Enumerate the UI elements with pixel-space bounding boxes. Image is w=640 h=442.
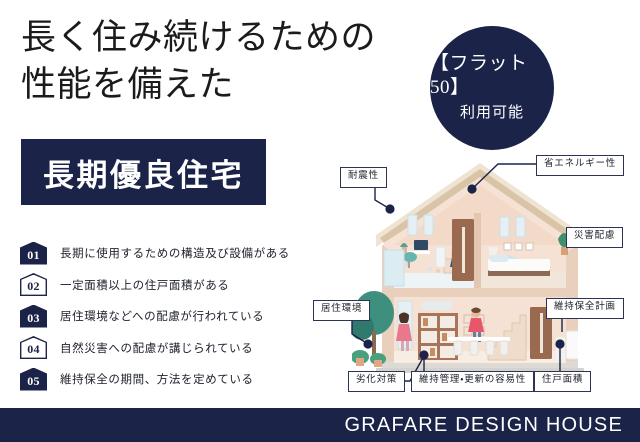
requirements-checklist: 01 長期に使用するための構造及び設備がある 02 一定面積以上の住戸面積がある… xyxy=(20,241,310,399)
list-item: 04 自然災害への配慮が講じられている xyxy=(20,336,310,360)
list-item-text: 自然災害への配慮が講じられている xyxy=(60,340,253,356)
flat50-availability-badge: 【フラット50】 利用可能 xyxy=(430,26,554,150)
number-badge-01: 01 xyxy=(20,242,47,265)
list-item-text: 居住環境などへの配慮が行われている xyxy=(60,308,264,324)
callout-deterioration-measures: 劣化対策 xyxy=(348,371,405,392)
list-item: 05 維持保全の期間、方法を定めている xyxy=(20,367,310,391)
advertisement-page: 長く住み続けるための 性能を備えた 長期優良住宅 01 長期に使用するための構造… xyxy=(0,0,640,442)
callout-dwelling-area: 住戸面積 xyxy=(534,371,591,392)
callout-energy-saving: 省エネルギー性 xyxy=(536,155,624,176)
callout-maintenance-plan: 維持保全計画 xyxy=(546,298,624,319)
list-item-text: 一定面積以上の住戸面積がある xyxy=(60,277,229,293)
number-badge-03: 03 xyxy=(20,305,47,328)
list-item-text: 維持保全の期間、方法を定めている xyxy=(60,371,254,387)
badge-number: 05 xyxy=(27,375,40,391)
callout-living-environment: 居住環境 xyxy=(313,300,370,321)
list-item: 03 居住環境などへの配慮が行われている xyxy=(20,304,310,328)
brand-name: GRAFARE DESIGN HOUSE xyxy=(345,414,640,437)
number-badge-04: 04 xyxy=(20,336,47,359)
callout-earthquake-resistance: 耐震性 xyxy=(340,167,387,188)
badge-number: 03 xyxy=(27,312,40,328)
flat50-line2: 利用可能 xyxy=(460,102,524,125)
page-headline: 長く住み続けるための 性能を備えた xyxy=(21,14,381,108)
long-term-quality-housing-tag: 長期優良住宅 xyxy=(21,139,266,205)
tagbox-label: 長期優良住宅 xyxy=(43,150,244,195)
callout-maintenance-ease: 維持管理・更新の容易性 xyxy=(411,371,534,392)
flat50-line1: 【フラット50】 xyxy=(430,52,554,100)
house-cutaway-illustration xyxy=(352,155,608,405)
badge-number: 01 xyxy=(27,249,40,265)
number-badge-02: 02 xyxy=(20,273,47,296)
callout-disaster-consideration: 災害配慮 xyxy=(566,227,623,248)
list-item: 01 長期に使用するための構造及び設備がある xyxy=(20,241,310,265)
number-badge-05: 05 xyxy=(20,368,47,391)
footer-brand-bar: GRAFARE DESIGN HOUSE xyxy=(0,408,640,442)
list-item-text: 長期に使用するための構造及び設備がある xyxy=(60,245,290,261)
badge-number: 02 xyxy=(27,280,40,296)
badge-number: 04 xyxy=(27,343,40,359)
list-item: 02 一定面積以上の住戸面積がある xyxy=(20,273,310,297)
